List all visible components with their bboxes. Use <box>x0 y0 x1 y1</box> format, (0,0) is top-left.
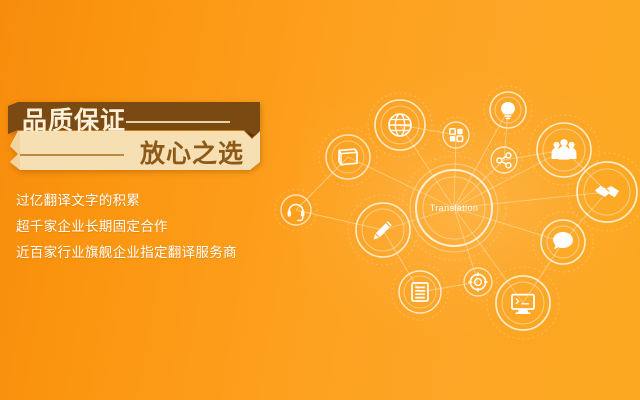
node-interpret <box>533 212 593 272</box>
quality-ribbon: 品质保证 放心之选 <box>8 102 260 174</box>
group-icon <box>552 139 577 160</box>
selling-point: 近百家行业旗舰企业指定翻译服务商 <box>16 242 316 264</box>
book-icon <box>339 149 357 164</box>
hub-node-translation: Translation <box>402 156 506 260</box>
globe-icon <box>389 114 411 136</box>
node-globe <box>368 93 432 157</box>
hub-label: Translation <box>430 203 479 213</box>
selling-points-list: 过亿翻译文字的积累 超千家企业长期固定合作 近百家行业旗舰企业指定翻译服务商 <box>16 190 316 268</box>
selling-point: 过亿翻译文字的积累 <box>16 190 316 212</box>
ribbon-bottom-notch <box>10 131 20 170</box>
ribbon-bottom-band <box>10 131 260 170</box>
node-editing <box>348 195 418 265</box>
monitor-icon <box>512 295 534 314</box>
handshake-icon <box>595 186 619 198</box>
pencil-icon <box>374 221 392 239</box>
selling-point: 超千家企业长期固定合作 <box>16 216 316 238</box>
translation-network-graphic: Translation <box>278 60 640 340</box>
chat-icon <box>553 232 573 249</box>
banner-canvas: Translation <box>0 0 640 400</box>
lightbulb-icon <box>501 102 515 119</box>
node-lightbulb <box>484 86 532 134</box>
